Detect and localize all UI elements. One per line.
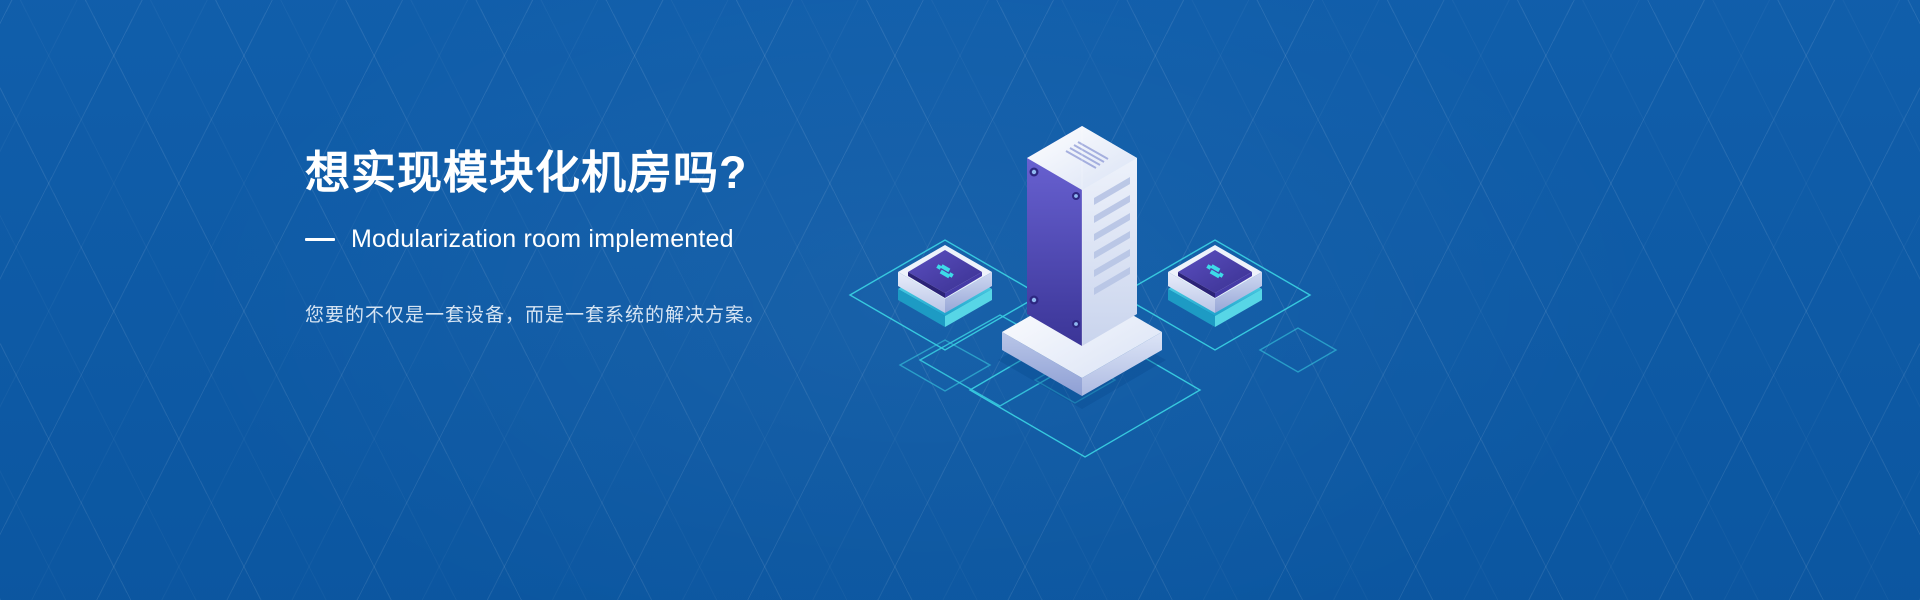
chip-module-left [898, 245, 992, 327]
hero-banner: 想实现模块化机房吗? Modularization room implement… [0, 0, 1920, 600]
banner-subtitle: Modularization room implemented [351, 225, 734, 254]
chip-module-right [1168, 245, 1262, 327]
dash-divider-icon [305, 238, 335, 241]
isometric-server-illustration [820, 60, 1340, 540]
server-tower [1002, 126, 1162, 396]
